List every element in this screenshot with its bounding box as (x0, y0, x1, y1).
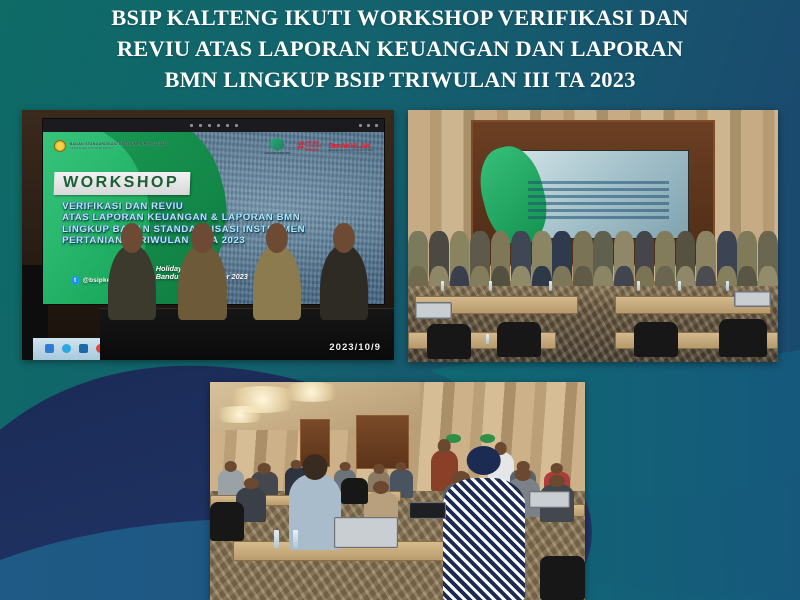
water-bottle (637, 281, 640, 291)
projection-screen (497, 150, 689, 238)
participant-head (258, 463, 271, 473)
toolbar-dot-icon (199, 124, 202, 127)
bangga-label: banggamelayanibangsa (306, 140, 321, 152)
toolbar-dot-icon (208, 124, 211, 127)
date-stamp: 2023/10/9 (329, 342, 381, 353)
laptop (734, 291, 771, 306)
laptop-screen (531, 493, 568, 506)
hash-icon: # (297, 141, 304, 151)
laptop (415, 302, 452, 320)
workshop-session-photo[interactable] (210, 382, 585, 600)
participant-head (515, 468, 531, 481)
twitter-icon: t (71, 276, 80, 285)
participant-foreground (443, 478, 526, 600)
participant-head (302, 454, 327, 480)
chair (634, 322, 678, 357)
participant-head (244, 478, 258, 490)
participant-head (373, 481, 389, 494)
ministry-seal-icon (54, 140, 66, 152)
minimize-icon (359, 124, 362, 127)
slide-text-lines (528, 181, 669, 219)
asean-standard-icon (270, 137, 284, 151)
page-title-line-1: BSIP KALTENG IKUTI WORKSHOP VERIFIKASI D… (18, 2, 782, 33)
org-sub: KEMENTERIAN PERTANIAN (70, 146, 113, 150)
water-bottle (293, 530, 298, 548)
page-title: BSIP KALTENG IKUTI WORKSHOP VERIFIKASI D… (0, 2, 800, 95)
toolbar-dot-icon (217, 124, 220, 127)
chair (540, 556, 585, 600)
chair (210, 502, 244, 541)
water-bottle (549, 281, 552, 291)
slide-title-line-2: ATAS LAPORAN KEUANGAN & LAPORAN BMN (62, 212, 305, 223)
water-bottle (486, 334, 489, 344)
water-bottle (726, 281, 729, 291)
laptop-screen (336, 519, 396, 546)
participant-head (438, 439, 451, 453)
speaker-figure (178, 245, 226, 320)
speaker-figure (108, 245, 156, 320)
presentation-slide-photo[interactable]: BADAN STANDARDISASI INSTRUMEN PERTANIAN … (22, 110, 394, 360)
water-bottle (489, 281, 492, 291)
participant-head (224, 461, 237, 471)
page-title-line-3: BMN LINGKUP BSIP TRIWULAN III TA 2023 (18, 64, 782, 95)
speaker-head (333, 223, 355, 253)
laptop (334, 517, 398, 548)
participant-head (466, 446, 501, 475)
window-controls (359, 124, 378, 127)
water-bottle (274, 530, 279, 548)
speaker-figure (320, 245, 368, 320)
photo-content: BADAN STANDARDISASI INSTRUMEN PERTANIAN … (22, 110, 394, 360)
photo-content (210, 382, 585, 600)
workshop-badge: WORKSHOP (53, 172, 190, 195)
page-title-line-2: REVIU ATAS LAPORAN KEUANGAN DAN LAPORAN (18, 33, 782, 64)
telegram-icon (62, 344, 71, 353)
bangga-melayani-bangsa-logo: # banggamelayanibangsa (297, 140, 321, 152)
slide-organization: BADAN STANDARDISASI INSTRUMEN PERTANIAN … (70, 142, 167, 151)
water-bottle (441, 281, 444, 291)
participant-head (291, 460, 302, 470)
chair (427, 324, 471, 359)
partner-logos: ASEANSTANDARD # banggamelayanibangsa Ber… (264, 137, 373, 155)
laptop-screen (736, 293, 769, 304)
slide-title-line-1: VERIFIKASI DAN REVIU (62, 201, 305, 212)
chair (497, 322, 541, 357)
slide-logo-bar: BADAN STANDARDISASI INSTRUMEN PERTANIAN … (54, 136, 374, 157)
chair (719, 319, 767, 357)
linkedin-icon (79, 344, 88, 353)
chandelier (278, 382, 346, 402)
laptop-screen (411, 504, 445, 517)
start-icon (45, 344, 54, 353)
participant-head (373, 464, 384, 474)
berakhlak-label: BerAKHLAK (328, 141, 370, 150)
speaker-head (191, 223, 213, 253)
asean-standard-label: ASEANSTANDARD (264, 152, 290, 155)
group-photo[interactable] (408, 110, 778, 362)
chair (341, 478, 367, 504)
participant-head (549, 475, 565, 488)
screen-toolbar (43, 119, 383, 133)
speaker-head (121, 223, 143, 253)
photo-content (408, 110, 778, 362)
speaker-figure (253, 245, 301, 320)
laptop (529, 491, 570, 508)
participant-head (551, 463, 564, 473)
laptop-screen (417, 304, 450, 318)
exit-sign-icon (480, 434, 495, 443)
participant-head (340, 462, 351, 472)
berakhlak-logo: BerAKHLAK BERORIENTASI PELAYANAN AKUNTAB… (328, 141, 373, 152)
maximize-icon (367, 124, 370, 127)
participant-head (396, 462, 407, 472)
org-name: BADAN STANDARDISASI INSTRUMEN PERTANIAN (70, 142, 167, 146)
laptop (409, 502, 447, 519)
water-bottle (678, 281, 681, 291)
speaker-head (266, 223, 288, 253)
toolbar-dot-icon (235, 124, 238, 127)
toolbar-dot-icon (190, 124, 193, 127)
asean-standard-logo: ASEANSTANDARD (264, 137, 290, 155)
toolbar-dot-icon (226, 124, 229, 127)
close-icon (375, 124, 378, 127)
berakhlak-sub: BERORIENTASI PELAYANAN AKUNTABEL (328, 150, 373, 152)
